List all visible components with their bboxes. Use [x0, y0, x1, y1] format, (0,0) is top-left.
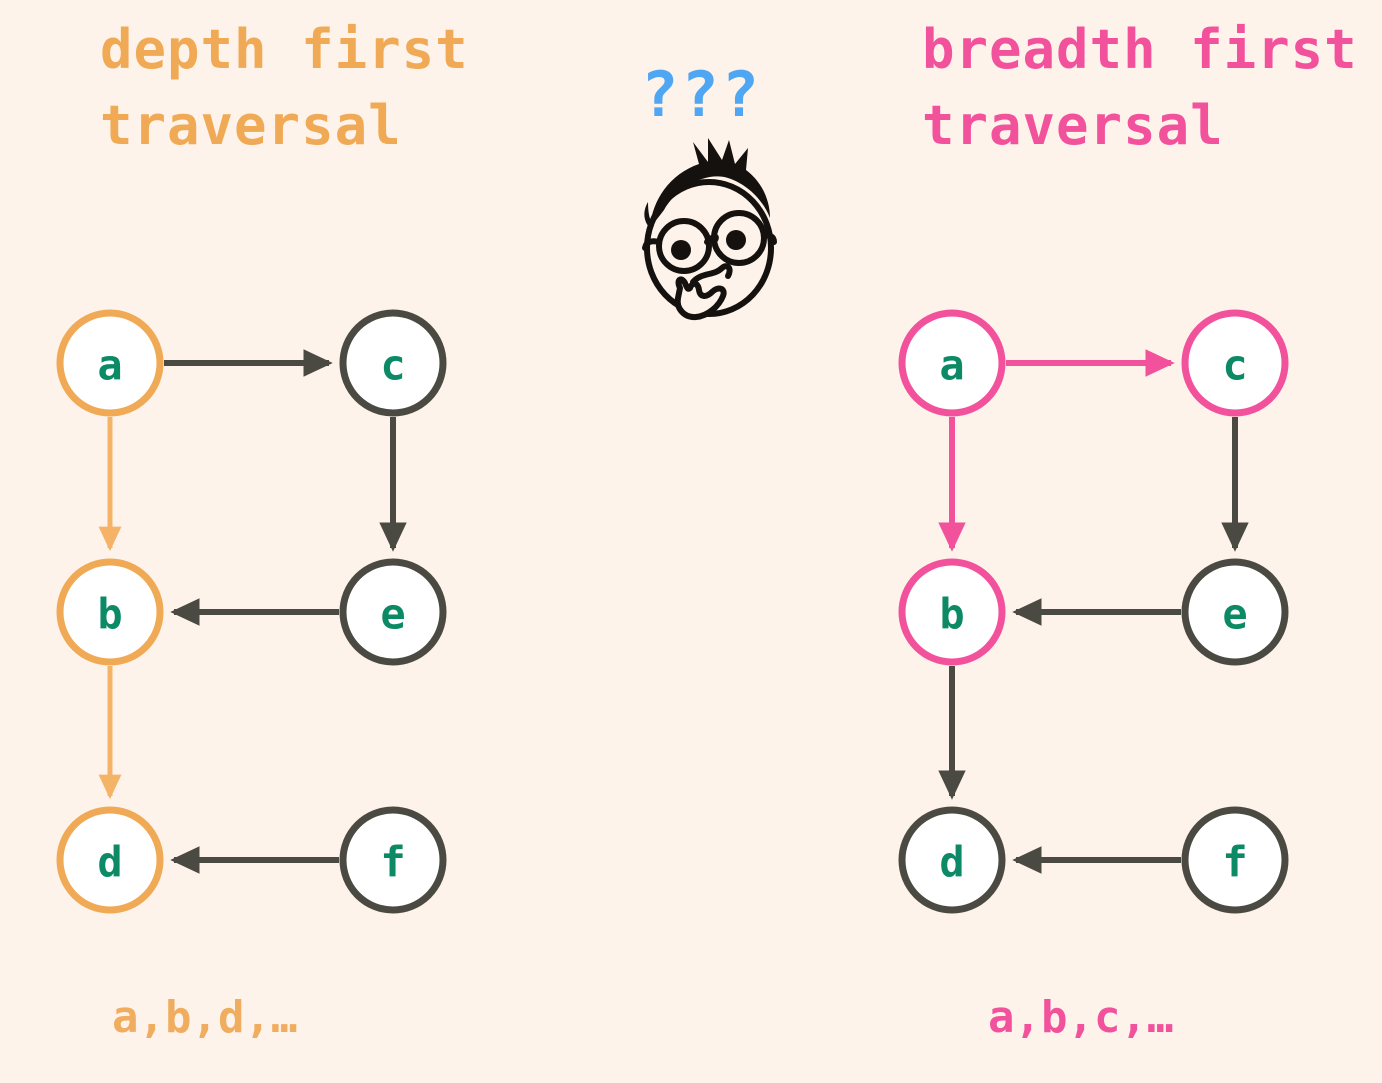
node-label-d: d — [97, 838, 122, 887]
graph-node-a[interactable]: a — [902, 313, 1002, 413]
node-label-d: d — [939, 838, 964, 887]
graph-node-e[interactable]: e — [1185, 562, 1285, 662]
graph-node-c[interactable]: c — [343, 313, 443, 413]
breadth-first-graph: acbedf — [902, 313, 1285, 910]
depth-first-graph: acbedf — [60, 313, 443, 910]
diagram-canvas: depth first traversal breadth first trav… — [0, 0, 1382, 1083]
node-label-b: b — [939, 590, 964, 639]
graph-node-c[interactable]: c — [1185, 313, 1285, 413]
node-label-e: e — [380, 590, 405, 639]
node-label-f: f — [1222, 838, 1247, 887]
node-label-a: a — [97, 341, 122, 390]
node-label-c: c — [1222, 341, 1247, 390]
graph-node-d[interactable]: d — [902, 810, 1002, 910]
graph-node-b[interactable]: b — [902, 562, 1002, 662]
node-label-e: e — [1222, 590, 1247, 639]
graph-node-f[interactable]: f — [343, 810, 443, 910]
graph-node-a[interactable]: a — [60, 313, 160, 413]
node-label-a: a — [939, 341, 964, 390]
breadth-first-order-caption: a,b,c,… — [988, 992, 1173, 1043]
graph-node-f[interactable]: f — [1185, 810, 1285, 910]
depth-first-order-caption: a,b,d,… — [112, 992, 297, 1043]
graph-layer: acbedfacbedf — [0, 0, 1382, 1083]
graph-node-d[interactable]: d — [60, 810, 160, 910]
node-label-f: f — [380, 838, 405, 887]
graph-node-e[interactable]: e — [343, 562, 443, 662]
node-label-b: b — [97, 590, 122, 639]
node-label-c: c — [380, 341, 405, 390]
graph-node-b[interactable]: b — [60, 562, 160, 662]
